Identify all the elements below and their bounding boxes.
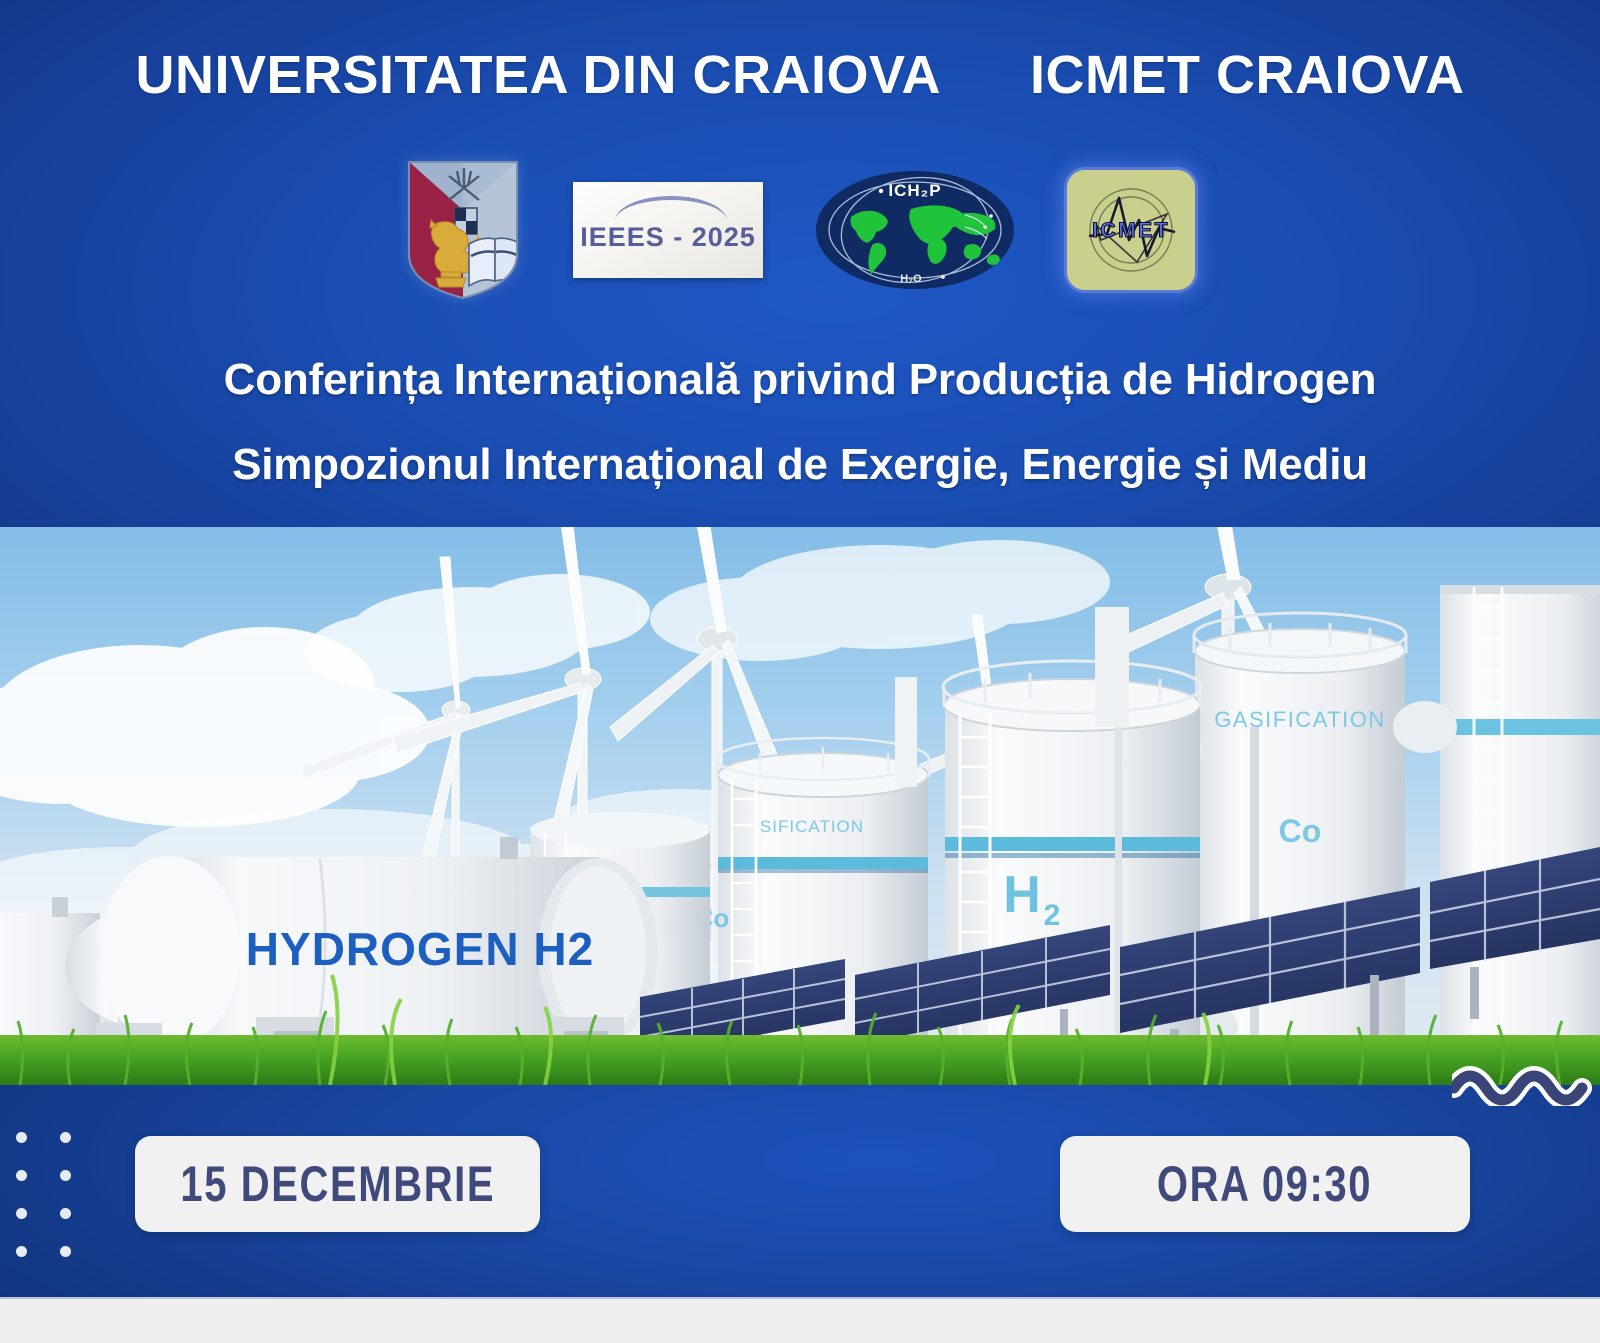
ieees-2025-logo: IEEES - 2025 xyxy=(573,182,763,278)
svg-text:H: H xyxy=(1003,866,1041,924)
svg-text:2: 2 xyxy=(1044,899,1061,932)
event-poster: UNIVERSITATEA DIN CRAIOVA ICMET CRAIOVA xyxy=(0,0,1600,1297)
ich2p-globe-logo-icon: ICH₂P H₂O xyxy=(815,169,1015,291)
page-background-strip xyxy=(0,1297,1600,1343)
wave-decoration-icon xyxy=(1452,1060,1600,1106)
dot-grid-decoration xyxy=(12,1128,82,1263)
conference-title-line-1: Conferința Internațională privind Produc… xyxy=(0,355,1600,405)
event-time-pill: ORA 09:30 xyxy=(1060,1136,1470,1232)
conference-title-line-2: Simpozionul Internațional de Exergie, En… xyxy=(0,440,1600,490)
svg-text:SIFICATION: SIFICATION xyxy=(760,817,864,836)
event-date-label: 15 DECEMBRIE xyxy=(180,1155,495,1213)
svg-text:Co: Co xyxy=(1279,813,1322,849)
poster-header-band: UNIVERSITATEA DIN CRAIOVA ICMET CRAIOVA xyxy=(0,0,1600,527)
organizers-line: UNIVERSITATEA DIN CRAIOVA ICMET CRAIOVA xyxy=(0,44,1600,106)
event-date-pill: 15 DECEMBRIE xyxy=(135,1136,540,1232)
organizer-icmet: ICMET CRAIOVA xyxy=(1030,44,1465,106)
svg-text:ICMET: ICMET xyxy=(1092,219,1170,242)
organizer-university: UNIVERSITATEA DIN CRAIOVA xyxy=(135,44,941,106)
svg-text:H₂O: H₂O xyxy=(900,273,922,285)
hydrogen-plant-photo: GASIFICATION Co xyxy=(0,527,1600,1085)
logo-row: IEEES - 2025 xyxy=(0,160,1600,300)
icmet-logo-icon: ICMET xyxy=(1067,170,1195,290)
ieees-logo-text: IEEES - 2025 xyxy=(580,222,756,253)
organizer-spacer xyxy=(957,44,1015,106)
university-of-craiova-crest-icon xyxy=(405,158,521,302)
svg-text:GASIFICATION: GASIFICATION xyxy=(1214,707,1386,732)
event-time-label: ORA 09:30 xyxy=(1157,1155,1372,1213)
svg-text:HYDROGEN H2: HYDROGEN H2 xyxy=(246,923,594,975)
svg-text:ICH₂P: ICH₂P xyxy=(888,181,941,200)
